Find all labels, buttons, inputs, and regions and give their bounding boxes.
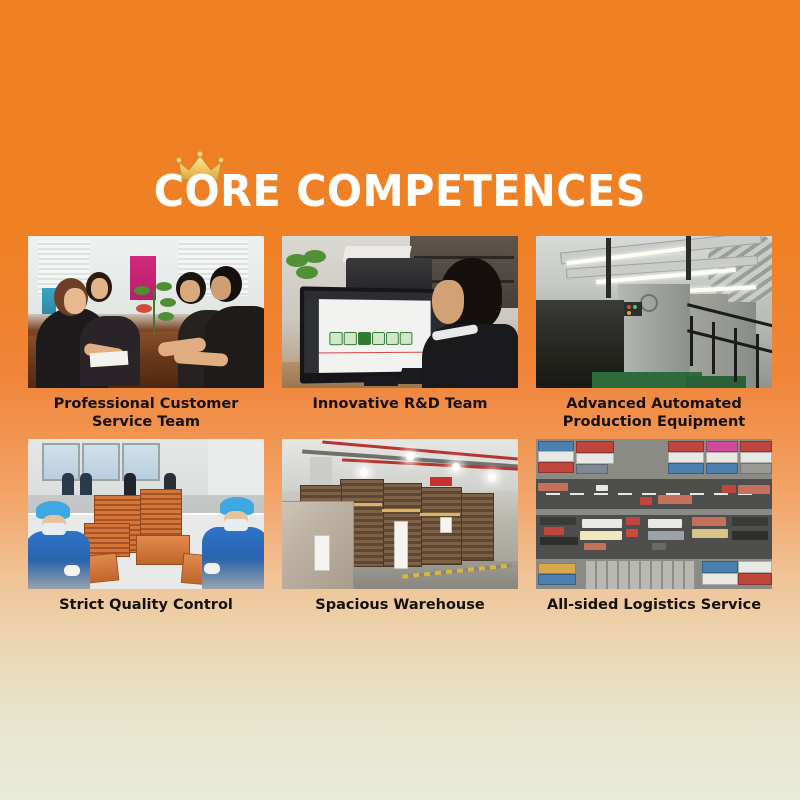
photo-worker bbox=[28, 531, 90, 589]
logistics-aerial-photo bbox=[536, 439, 772, 589]
competence-card-professional-customer-service-team[interactable]: Professional Customer Service Team bbox=[28, 236, 264, 431]
photo-container bbox=[538, 563, 576, 574]
photo-person-face bbox=[211, 276, 231, 300]
quality-control-photo bbox=[28, 439, 264, 589]
photo-control-panel bbox=[624, 302, 642, 316]
competence-card-advanced-automated-production-equipment[interactable]: Advanced Automated Production Equipment bbox=[536, 236, 772, 431]
photo-truck bbox=[732, 517, 768, 526]
photo-lamp bbox=[406, 453, 414, 461]
photo-container bbox=[576, 453, 614, 464]
photo-railing bbox=[686, 310, 772, 388]
photo-container bbox=[668, 463, 704, 474]
photo-truck bbox=[732, 531, 768, 540]
photo-person bbox=[204, 306, 264, 388]
card-caption: Spacious Warehouse bbox=[282, 596, 518, 614]
card-caption: Professional Customer Service Team bbox=[28, 395, 264, 431]
photo-truck bbox=[584, 543, 606, 550]
photo-press-logo bbox=[640, 294, 658, 312]
card-caption-line1: Strict Quality Control bbox=[28, 596, 264, 614]
page-title: CORE COMPETENCES bbox=[154, 164, 646, 220]
photo-beam bbox=[606, 238, 611, 298]
photo-building bbox=[586, 561, 696, 589]
photo-person-face bbox=[180, 280, 200, 302]
photo-person bbox=[80, 473, 92, 495]
photo-car bbox=[596, 485, 608, 491]
card-caption-line2: Production Equipment bbox=[536, 413, 772, 431]
photo-truck bbox=[738, 485, 770, 494]
photo-glove bbox=[64, 565, 80, 576]
photo-truck bbox=[648, 531, 684, 540]
photo-truck bbox=[540, 517, 576, 525]
photo-person bbox=[62, 473, 74, 495]
photo-container bbox=[576, 464, 608, 474]
photo-monitor-stand bbox=[364, 376, 398, 386]
photo-beam bbox=[686, 236, 691, 280]
photo-container bbox=[740, 463, 772, 474]
photo-window bbox=[42, 443, 80, 481]
photo-car bbox=[652, 543, 666, 550]
photo-truck bbox=[544, 527, 564, 535]
competence-card-strict-quality-control[interactable]: Strict Quality Control bbox=[28, 439, 264, 614]
card-caption-line1: Innovative R&D Team bbox=[282, 395, 518, 413]
photo-sign bbox=[430, 477, 452, 486]
photo-container bbox=[576, 441, 614, 453]
photo-lamp bbox=[488, 473, 496, 481]
photo-person-face bbox=[91, 278, 108, 299]
card-caption-line1: Professional Customer bbox=[28, 395, 264, 413]
photo-box-stack bbox=[84, 523, 130, 557]
photo-truck bbox=[692, 517, 726, 526]
photo-worker bbox=[202, 527, 264, 589]
competence-card-all-sided-logistics-service[interactable]: All-sided Logistics Service bbox=[536, 439, 772, 614]
warehouse-photo bbox=[282, 439, 518, 589]
card-caption: Innovative R&D Team bbox=[282, 395, 518, 413]
photo-container bbox=[702, 573, 738, 585]
photo-container bbox=[706, 441, 738, 452]
photo-truck bbox=[658, 495, 692, 504]
photo-paper bbox=[90, 351, 129, 368]
printing-press-photo bbox=[536, 236, 772, 388]
photo-label bbox=[440, 517, 452, 533]
photo-person-face bbox=[432, 280, 464, 324]
photo-container bbox=[740, 441, 772, 452]
photo-worker-mask bbox=[42, 523, 66, 535]
photo-pallet bbox=[460, 493, 494, 561]
core-competences-banner: CORE COMPETENCES bbox=[0, 0, 800, 800]
photo-lamp bbox=[360, 469, 368, 477]
photo-label bbox=[394, 521, 408, 569]
card-caption: All-sided Logistics Service bbox=[536, 596, 772, 614]
competence-card-spacious-warehouse[interactable]: Spacious Warehouse bbox=[282, 439, 518, 614]
photo-plant bbox=[132, 280, 178, 338]
card-caption: Advanced Automated Production Equipment bbox=[536, 395, 772, 431]
photo-truck bbox=[692, 529, 728, 538]
photo-container bbox=[740, 452, 772, 463]
photo-plant bbox=[286, 250, 332, 284]
photo-person-face bbox=[64, 288, 86, 314]
photo-glove bbox=[204, 563, 220, 574]
title-block: CORE COMPETENCES bbox=[0, 150, 800, 220]
card-caption-line1: Spacious Warehouse bbox=[282, 596, 518, 614]
photo-label bbox=[314, 535, 330, 571]
card-caption-line1: Advanced Automated bbox=[536, 395, 772, 413]
photo-container bbox=[668, 441, 704, 452]
photo-container bbox=[538, 451, 574, 462]
photo-lamp bbox=[452, 463, 460, 471]
photo-truck bbox=[538, 483, 568, 491]
rd-designer-photo bbox=[282, 236, 518, 388]
photo-container bbox=[706, 452, 738, 463]
photo-truck bbox=[626, 529, 638, 537]
photo-container bbox=[738, 573, 772, 585]
card-caption-line1: All-sided Logistics Service bbox=[536, 596, 772, 614]
photo-container bbox=[738, 561, 772, 573]
photo-truck bbox=[580, 531, 622, 540]
photo-container bbox=[538, 574, 576, 585]
competences-grid: Professional Customer Service Team bbox=[28, 236, 772, 614]
photo-container bbox=[538, 462, 574, 473]
photo-worker-mask bbox=[224, 519, 248, 531]
meeting-room-photo bbox=[28, 236, 264, 388]
competence-card-innovative-rd-team[interactable]: Innovative R&D Team bbox=[282, 236, 518, 431]
photo-container bbox=[706, 463, 738, 474]
card-caption: Strict Quality Control bbox=[28, 596, 264, 614]
photo-truck bbox=[626, 517, 640, 525]
photo-truck bbox=[540, 537, 578, 545]
card-caption-line2: Service Team bbox=[28, 413, 264, 431]
photo-truck bbox=[640, 497, 652, 505]
photo-container bbox=[668, 452, 704, 463]
photo-container bbox=[702, 561, 738, 573]
photo-truck bbox=[722, 485, 736, 493]
photo-truck bbox=[648, 519, 682, 528]
photo-truck bbox=[582, 519, 622, 528]
